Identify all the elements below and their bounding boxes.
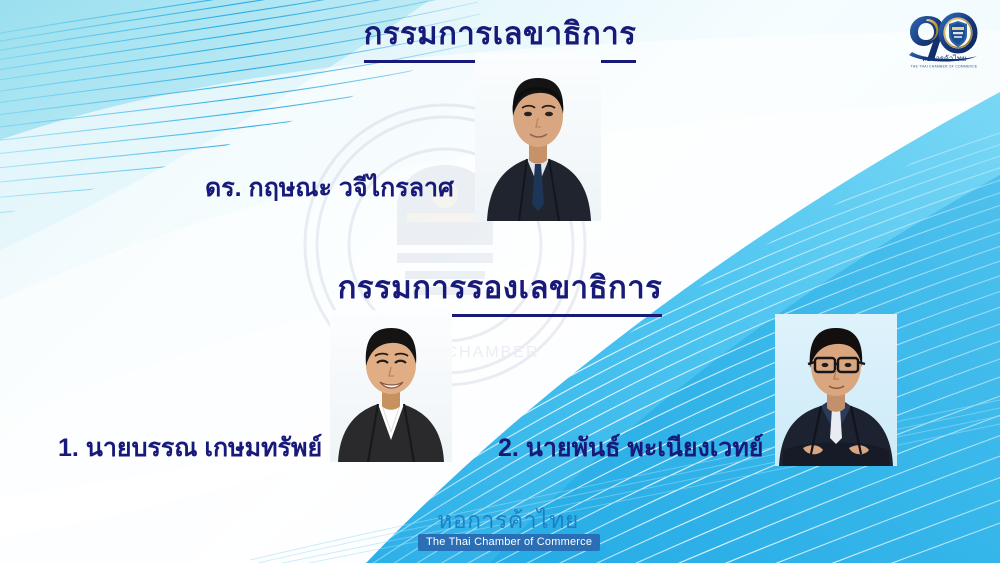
footer-brand-thai: หอการค้าไทย <box>418 508 598 532</box>
logo-thai-text: หอการค้าไทย <box>922 54 967 63</box>
footer-brand-english: The Thai Chamber of Commerce <box>418 534 600 551</box>
heading-deputy-secretary-general-text: กรรมการรองเลขาธิการ <box>338 262 663 317</box>
anniversary-90-logo: หอการค้าไทย THE THAI CHAMBER OF COMMERCE <box>903 6 981 70</box>
portrait-deputy-1 <box>330 310 452 462</box>
heading-deputy-secretary-general: กรรมการรองเลขาธิการ <box>0 262 1000 317</box>
portrait-deputy-2 <box>775 314 897 466</box>
name-deputy-1: 1. นายบรรณ เกษมทรัพย์ <box>58 428 322 468</box>
footer-brand: หอการค้าไทย The Thai Chamber of Commerce <box>418 508 598 551</box>
name-deputy-2: 2. นายพันธ์ พะเนียงเวทย์ <box>498 428 763 468</box>
slide-canvas: THE THAI CHAMBER กรรมการเลขาธิการ <box>0 0 1000 563</box>
logo-english-text: THE THAI CHAMBER OF COMMERCE <box>911 65 978 69</box>
name-secretary-general: ดร. กฤษณะ วจีไกรลาศ <box>205 168 454 208</box>
portrait-secretary-general <box>475 54 601 221</box>
